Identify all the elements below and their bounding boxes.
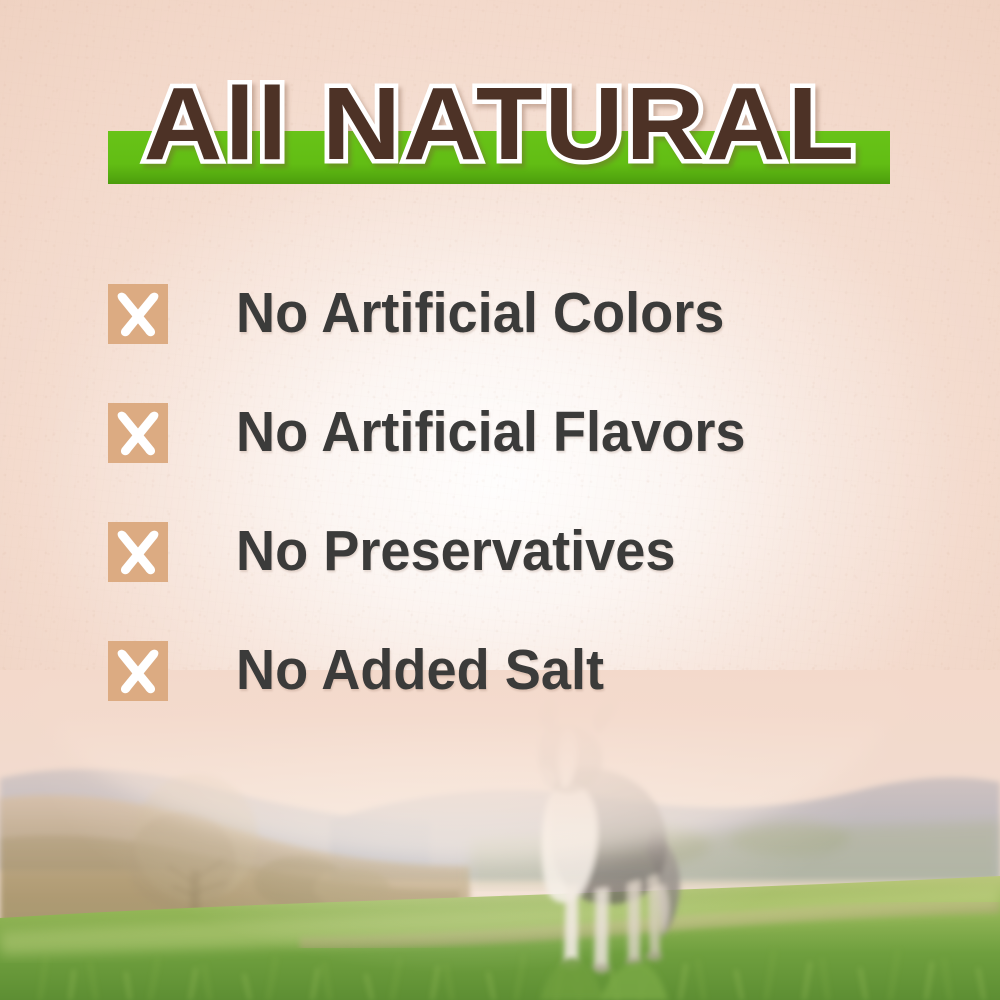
product-feature-poster: All NATURAL No Artificial Colors No Arti… [0,0,1000,1000]
claim-label: No Artificial Colors [236,285,724,342]
checkbox-no-added-salt[interactable] [108,641,168,701]
claim-label: No Preservatives [236,523,675,580]
x-mark-icon [108,284,168,344]
checkbox-no-preservatives[interactable] [108,522,168,582]
list-item: No Artificial Colors [108,254,908,373]
list-item: No Preservatives [108,492,908,611]
x-mark-icon [108,641,168,701]
x-mark-icon [108,522,168,582]
checkbox-no-artificial-colors[interactable] [108,284,168,344]
claims-list: No Artificial Colors No Artificial Flavo… [108,254,908,730]
page-title: All NATURAL [0,72,1000,175]
claim-label: No Artificial Flavors [236,404,746,461]
x-mark-icon [108,403,168,463]
list-item: No Added Salt [108,611,908,730]
claim-label: No Added Salt [236,642,604,699]
list-item: No Artificial Flavors [108,373,908,492]
checkbox-no-artificial-flavors[interactable] [108,403,168,463]
